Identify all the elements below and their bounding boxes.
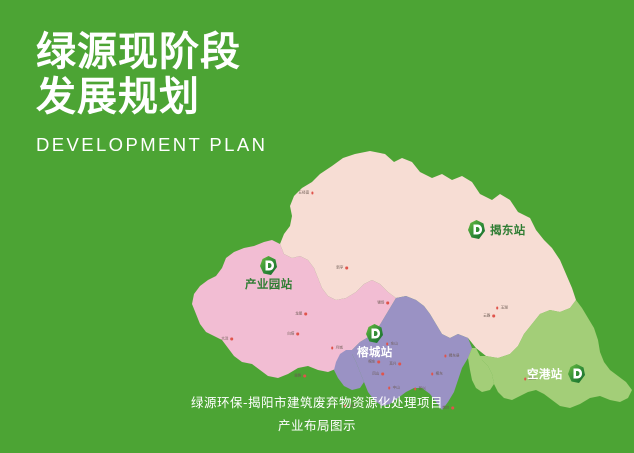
place-label: 锡场 bbox=[377, 301, 389, 306]
lvyuan-leaf-logo-icon bbox=[568, 364, 585, 383]
place-label-text: 凤山 bbox=[372, 372, 379, 377]
place-dot-icon bbox=[398, 363, 400, 365]
station-marker-airport[interactable]: 空港站 bbox=[527, 364, 585, 383]
place-label: 榕东 bbox=[431, 372, 443, 377]
station-label-airport: 空港站 bbox=[527, 366, 563, 382]
jieyang-region-map: 五经富新亨锡场玉湖云路揭东县龙尾白塔大洋月城东山霖磐榕东真兴凤山中山新兴榕东梅东… bbox=[180, 148, 634, 410]
lvyuan-leaf-logo-icon bbox=[468, 220, 485, 239]
headline-block: 绿源现阶段 发展规划 DEVELOPMENT PLAN bbox=[36, 30, 366, 156]
caption-line-1: 绿源环保-揭阳市建筑废弃物资源化处理项目 bbox=[0, 391, 634, 414]
place-label-text: 大洋 bbox=[221, 337, 228, 342]
place-label: 新亨 bbox=[336, 266, 348, 271]
station-marker-industrial-park[interactable]: 产业园站 bbox=[245, 256, 293, 292]
caption-line-2: 产业布局图示 bbox=[0, 414, 634, 437]
station-marker-rongcheng[interactable]: 榕城站 bbox=[357, 324, 393, 360]
place-label: 五经富 bbox=[298, 191, 313, 196]
place-label: 中山 bbox=[388, 386, 400, 391]
place-dot-icon bbox=[496, 307, 498, 309]
place-label-text: 榕东 bbox=[368, 360, 375, 365]
place-dot-icon bbox=[311, 192, 313, 194]
place-dot-icon bbox=[388, 387, 390, 389]
station-label-rongcheng: 榕城站 bbox=[357, 344, 393, 360]
lvyuan-leaf-logo-icon bbox=[366, 324, 383, 343]
lvyuan-leaf-logo-icon bbox=[260, 256, 277, 275]
place-dot-icon bbox=[492, 315, 494, 317]
place-label: 真兴 bbox=[389, 362, 401, 367]
place-dot-icon bbox=[381, 373, 383, 375]
place-label: 玉湖 bbox=[496, 306, 508, 311]
place-label: 揭东县 bbox=[444, 354, 459, 359]
station-marker-jiedong[interactable]: 揭东站 bbox=[468, 220, 526, 239]
place-label-text: 揭东县 bbox=[449, 354, 460, 359]
place-label-text: 玉湖 bbox=[501, 306, 508, 311]
place-dot-icon bbox=[377, 361, 379, 363]
development-plan-slide: 绿源现阶段 发展规划 DEVELOPMENT PLAN 五经富新亨锡场玉湖云路揭… bbox=[0, 0, 634, 453]
place-label-text: 月城 bbox=[336, 346, 343, 351]
place-dot-icon bbox=[431, 373, 433, 375]
place-label-text: 白塔 bbox=[287, 332, 294, 337]
place-label-text: 榕东 bbox=[436, 372, 443, 377]
place-dot-icon bbox=[414, 388, 416, 390]
place-label-text: 中山 bbox=[393, 386, 400, 391]
place-label-text: 新亨 bbox=[336, 266, 343, 271]
place-label: 凤山 bbox=[372, 372, 384, 377]
place-label-text: 云路 bbox=[483, 314, 490, 319]
place-label: 白塔 bbox=[287, 332, 299, 337]
place-dot-icon bbox=[386, 302, 388, 304]
place-dot-icon bbox=[303, 375, 305, 377]
caption-block: 绿源环保-揭阳市建筑废弃物资源化处理项目 产业布局图示 bbox=[0, 391, 634, 437]
place-label-text: 龙尾 bbox=[295, 312, 302, 317]
station-label-industrial-park: 产业园站 bbox=[245, 276, 293, 292]
place-dot-icon bbox=[230, 338, 232, 340]
place-dot-icon bbox=[345, 267, 347, 269]
place-label: 大洋 bbox=[221, 337, 233, 342]
place-label: 云路 bbox=[483, 314, 495, 319]
place-dot-icon bbox=[304, 313, 306, 315]
place-label-text: 五经富 bbox=[298, 191, 309, 196]
place-dot-icon bbox=[444, 355, 446, 357]
place-label-text: 锡场 bbox=[377, 301, 384, 306]
place-label-text: 真兴 bbox=[389, 362, 396, 367]
place-dot-icon bbox=[296, 333, 298, 335]
place-label: 霖磐 bbox=[294, 374, 306, 379]
place-label-text: 霖磐 bbox=[294, 374, 301, 379]
place-dot-icon bbox=[331, 347, 333, 349]
place-label: 榕东 bbox=[368, 360, 380, 365]
place-label: 月城 bbox=[331, 346, 343, 351]
station-label-jiedong: 揭东站 bbox=[490, 222, 526, 238]
page-title-line-2: 发展规划 bbox=[36, 75, 366, 120]
place-label: 龙尾 bbox=[295, 312, 307, 317]
page-title-line-1: 绿源现阶段 bbox=[36, 30, 366, 75]
